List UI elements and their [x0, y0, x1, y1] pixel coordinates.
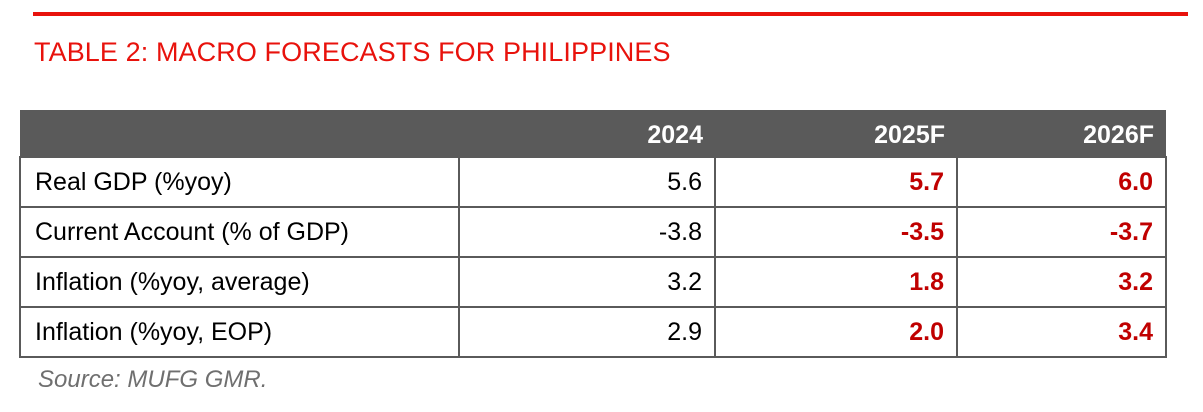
- table-row: Inflation (%yoy, average) 3.2 1.8 3.2: [20, 257, 1166, 307]
- cell-2026f: 3.4: [957, 307, 1166, 357]
- column-header-2026f: 2026F: [957, 110, 1166, 157]
- table-row: Current Account (% of GDP) -3.8 -3.5 -3.…: [20, 207, 1166, 257]
- row-label: Inflation (%yoy, average): [20, 257, 459, 307]
- cell-2024: 5.6: [459, 157, 715, 207]
- source-note: Source: MUFG GMR.: [38, 366, 267, 394]
- column-header-2025f: 2025F: [715, 110, 957, 157]
- column-header-2024: 2024: [459, 110, 715, 157]
- cell-2024: 3.2: [459, 257, 715, 307]
- table-row: Real GDP (%yoy) 5.6 5.7 6.0: [20, 157, 1166, 207]
- table-row: Inflation (%yoy, EOP) 2.9 2.0 3.4: [20, 307, 1166, 357]
- table-header-row: 2024 2025F 2026F: [20, 110, 1166, 157]
- cell-2026f: -3.7: [957, 207, 1166, 257]
- row-label: Current Account (% of GDP): [20, 207, 459, 257]
- macro-forecast-table: 2024 2025F 2026F Real GDP (%yoy) 5.6 5.7…: [19, 110, 1167, 358]
- cell-2024: 2.9: [459, 307, 715, 357]
- cell-2026f: 3.2: [957, 257, 1166, 307]
- row-label: Real GDP (%yoy): [20, 157, 459, 207]
- cell-2024: -3.8: [459, 207, 715, 257]
- cell-2025f: -3.5: [715, 207, 957, 257]
- cell-2026f: 6.0: [957, 157, 1166, 207]
- column-header-metric: [20, 110, 459, 157]
- cell-2025f: 1.8: [715, 257, 957, 307]
- page-title: TABLE 2: MACRO FORECASTS FOR PHILIPPINES: [34, 36, 671, 68]
- cell-2025f: 5.7: [715, 157, 957, 207]
- row-label: Inflation (%yoy, EOP): [20, 307, 459, 357]
- top-red-rule: [33, 12, 1188, 16]
- cell-2025f: 2.0: [715, 307, 957, 357]
